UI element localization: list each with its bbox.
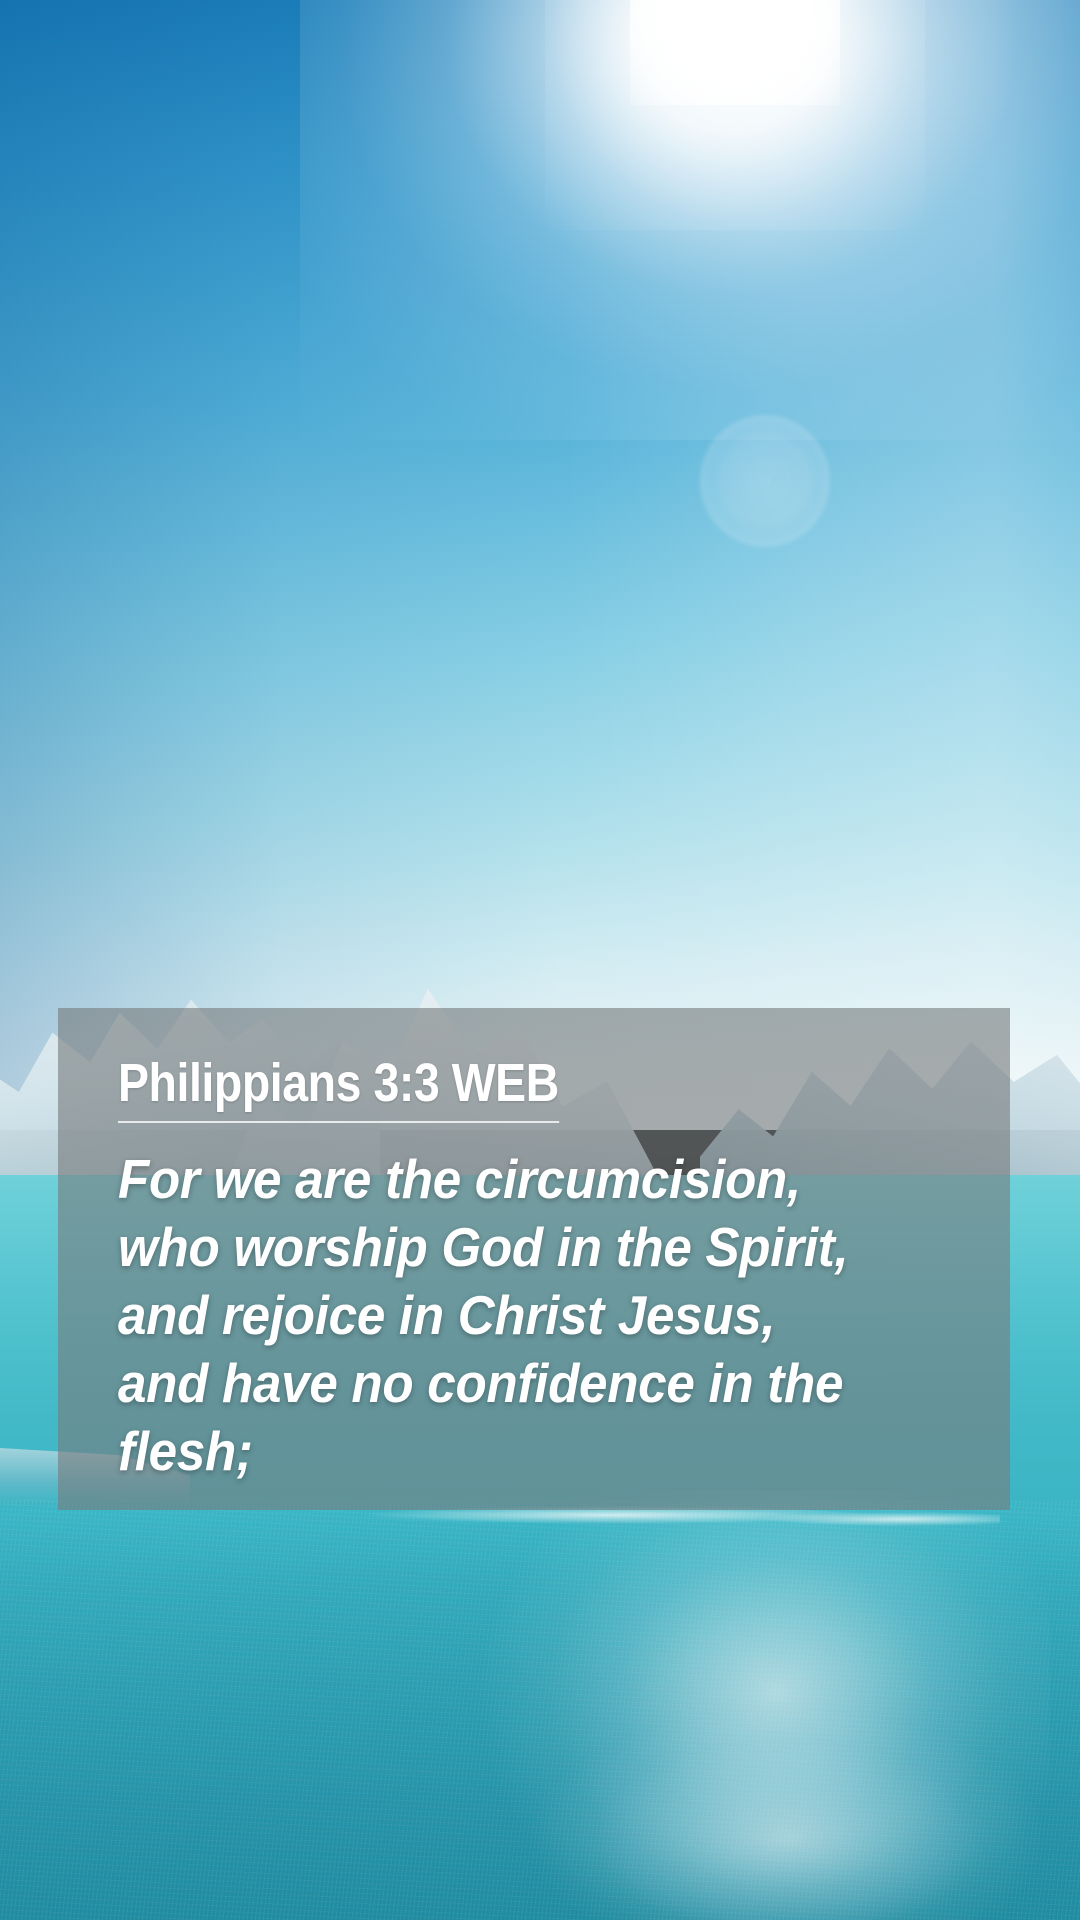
verse-line: For we are the circumcision, — [118, 1145, 907, 1213]
verse-line: and have no confidence in the — [118, 1349, 907, 1417]
sun-icon — [630, 0, 840, 105]
verse-wallpaper: Philippians 3:3 WEB For we are the circu… — [0, 0, 1080, 1920]
verse-line: flesh; — [118, 1417, 907, 1485]
verse-text: For we are the circumcision, who worship… — [118, 1145, 966, 1485]
lens-flare-inner-icon — [716, 432, 814, 530]
verse-line: and rejoice in Christ Jesus, — [118, 1281, 907, 1349]
verse-line: who worship God in the Spirit, — [118, 1213, 907, 1281]
verse-reference: Philippians 3:3 WEB — [118, 1056, 559, 1123]
verse-overlay-card: Philippians 3:3 WEB For we are the circu… — [58, 1008, 1010, 1510]
water-ripple-texture — [0, 1500, 1080, 1920]
